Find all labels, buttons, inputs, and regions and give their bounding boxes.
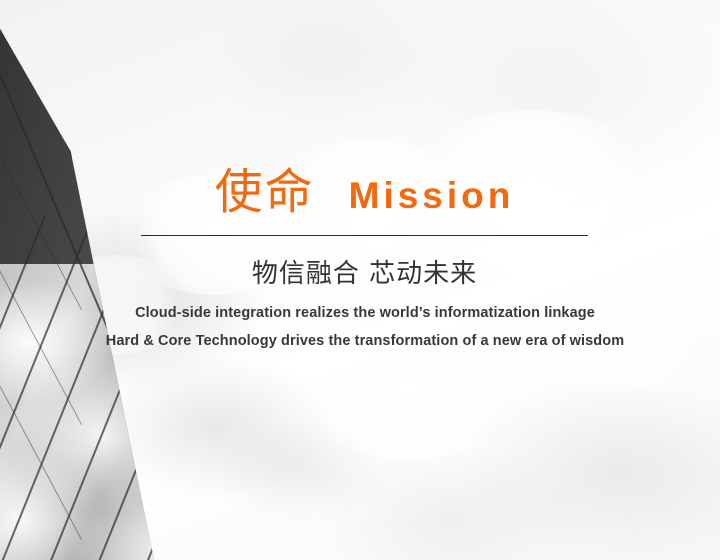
mission-hero-banner: 使命 Mission 物信融合 芯动未来 Cloud-side integrat… [0, 0, 720, 560]
hero-title: 使命 Mission [141, 168, 588, 230]
hero-title-en: Mission [349, 177, 515, 214]
hero-taglines: Cloud-side integration realizes the worl… [65, 303, 665, 359]
tagline-line-2: Hard & Core Technology drives the transf… [65, 331, 665, 351]
hero-subtitle-cn: 物信融合 芯动未来 [141, 258, 588, 290]
hero-title-cn: 使命 [215, 168, 315, 216]
hero-content: 使命 Mission 物信融合 芯动未来 Cloud-side integrat… [0, 0, 720, 560]
title-divider [141, 235, 588, 236]
tagline-line-1: Cloud-side integration realizes the worl… [65, 303, 665, 323]
